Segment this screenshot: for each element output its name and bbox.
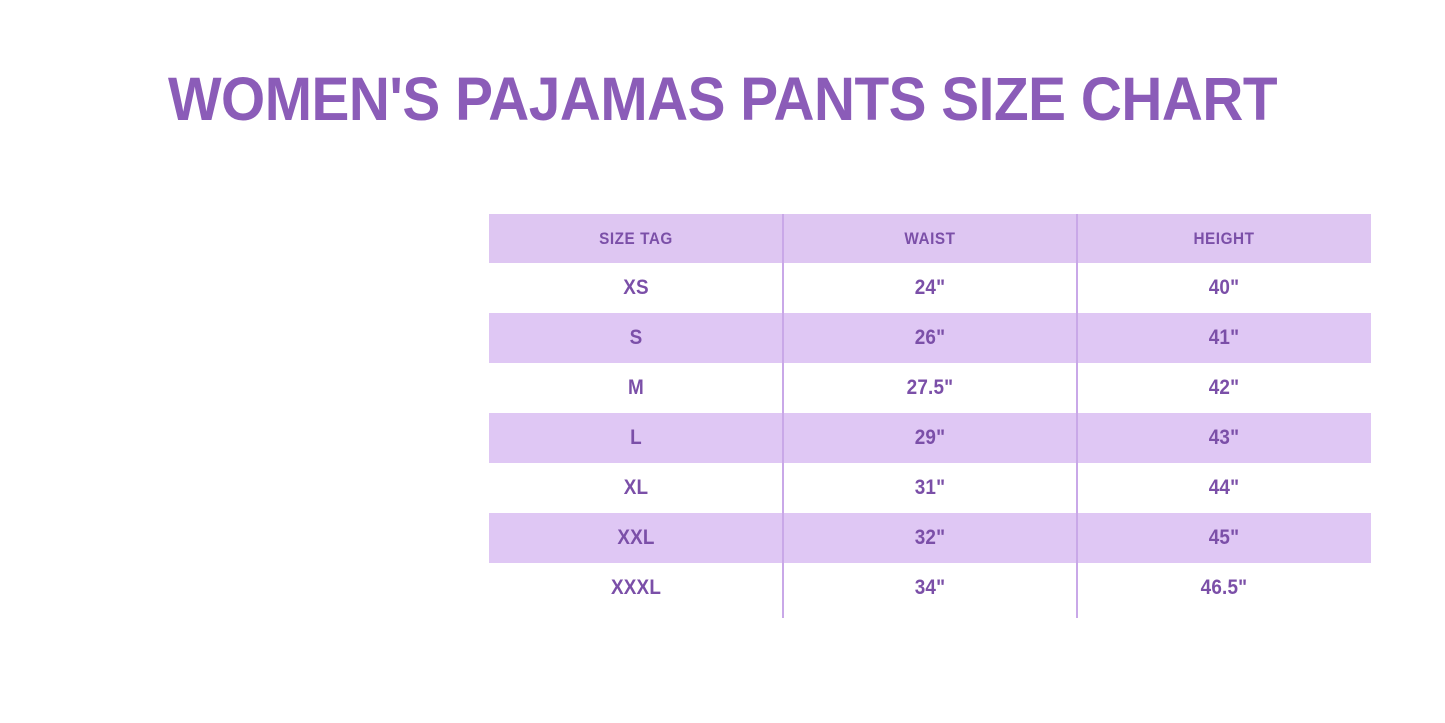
table-row: XS 24" 40" (489, 263, 1371, 313)
table-row: S 26" 41" (489, 313, 1371, 363)
cell-size-tag: S (504, 313, 769, 363)
column-header-height: HEIGHT (1092, 214, 1357, 263)
cell-size-tag: XXXL (504, 563, 769, 613)
table-row: L 29" 43" (489, 413, 1371, 463)
table-row: XL 31" 44" (489, 463, 1371, 513)
cell-height: 43" (1092, 413, 1357, 463)
cell-size-tag: M (504, 363, 769, 413)
table-header: SIZE TAG WAIST HEIGHT (489, 214, 1371, 263)
table-row: XXL 32" 45" (489, 513, 1371, 563)
cell-size-tag: XS (504, 263, 769, 313)
cell-height: 42" (1092, 363, 1357, 413)
cell-waist: 26" (798, 313, 1063, 363)
cell-size-tag: L (504, 413, 769, 463)
cell-waist: 24" (798, 263, 1063, 313)
cell-height: 46.5" (1092, 563, 1357, 613)
table-row: XXXL 34" 46.5" (489, 563, 1371, 613)
cell-waist: 34" (798, 563, 1063, 613)
column-header-waist: WAIST (798, 214, 1063, 263)
cell-waist: 29" (798, 413, 1063, 463)
size-chart-page: WOMEN'S PAJAMAS PANTS SIZE CHART SIZE TA… (0, 0, 1445, 723)
table-header-row: SIZE TAG WAIST HEIGHT (489, 214, 1371, 263)
column-header-size-tag: SIZE TAG (504, 214, 769, 263)
table-body: XS 24" 40" S 26" 41" M 27.5" 42" L 29" (489, 263, 1371, 613)
cell-height: 44" (1092, 463, 1357, 513)
cell-waist: 27.5" (798, 363, 1063, 413)
cell-size-tag: XXL (504, 513, 769, 563)
cell-height: 45" (1092, 513, 1357, 563)
cell-waist: 31" (798, 463, 1063, 513)
cell-height: 41" (1092, 313, 1357, 363)
size-chart-table-container: SIZE TAG WAIST HEIGHT XS 24" 40" S 26" 4… (489, 214, 1371, 613)
cell-height: 40" (1092, 263, 1357, 313)
cell-size-tag: XL (504, 463, 769, 513)
page-title: WOMEN'S PAJAMAS PANTS SIZE CHART (51, 66, 1395, 132)
cell-waist: 32" (798, 513, 1063, 563)
table-row: M 27.5" 42" (489, 363, 1371, 413)
size-chart-table: SIZE TAG WAIST HEIGHT XS 24" 40" S 26" 4… (489, 214, 1371, 613)
